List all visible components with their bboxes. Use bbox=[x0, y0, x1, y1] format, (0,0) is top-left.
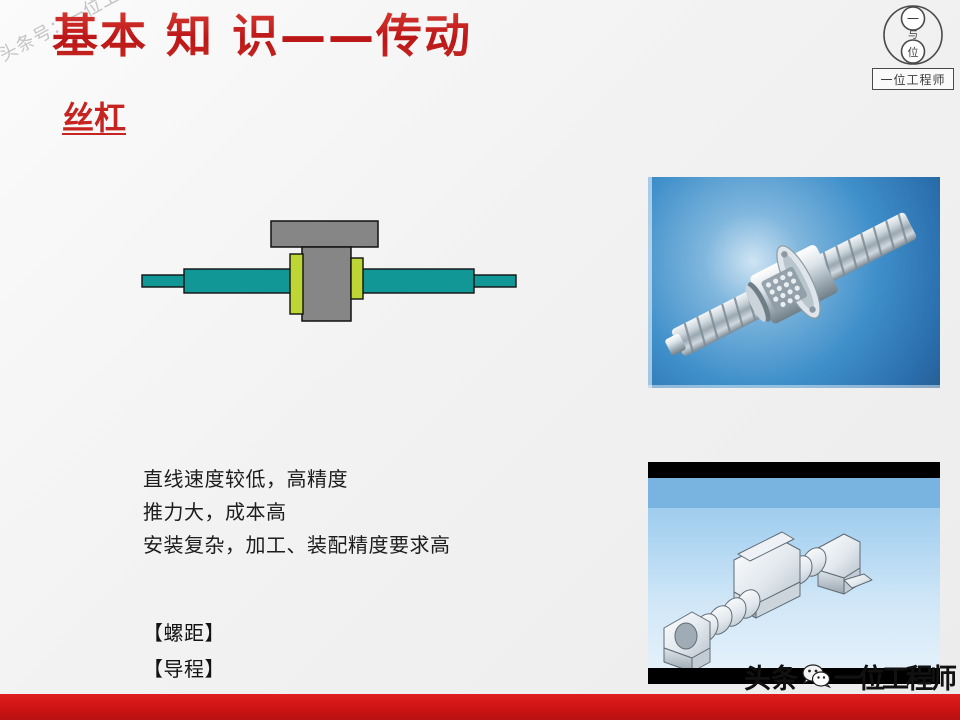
feature-line-3: 安装复杂，加工、装配精度要求高 bbox=[143, 529, 563, 562]
term-lead: 【导程】 bbox=[143, 651, 443, 687]
term-list: 【螺距】 【导程】 bbox=[143, 615, 443, 687]
lead-screw-schematic bbox=[140, 218, 520, 343]
collar-right bbox=[351, 258, 363, 299]
lead-screw-cad bbox=[648, 462, 940, 684]
svg-text:一: 一 bbox=[907, 12, 919, 26]
collar-left bbox=[290, 254, 303, 314]
photo1-bottom-edge bbox=[648, 385, 940, 388]
svg-text:与: 与 bbox=[908, 29, 918, 41]
bottom-accent-bar bbox=[0, 694, 960, 720]
page-title: 基本 知 识——传动 bbox=[52, 8, 472, 64]
photo1-left-edge bbox=[648, 177, 652, 388]
logo-mark-icon: 一 与 位 bbox=[872, 4, 954, 68]
cad-illustration bbox=[648, 462, 940, 684]
term-pitch: 【螺距】 bbox=[143, 615, 443, 651]
cad-bottom-bar bbox=[648, 668, 940, 684]
shaft-stub-left bbox=[142, 275, 188, 287]
page-subtitle: 丝杠 bbox=[62, 98, 126, 138]
shaft-stub-right bbox=[472, 275, 516, 287]
feature-line-2: 推力大，成本高 bbox=[143, 496, 563, 529]
nut-block bbox=[302, 247, 351, 321]
logo-caption: 一位工程师 bbox=[872, 68, 954, 90]
brand-logo: 一 与 位 一位工程师 bbox=[872, 4, 954, 96]
ball-screw-photo bbox=[648, 177, 940, 388]
slide-canvas: 头条号：一位工程师 基本 知 识——传动 丝杠 一 与 位 一位工程师 bbox=[0, 0, 960, 720]
mount-plate bbox=[271, 221, 378, 247]
ball-screw-illustration bbox=[648, 177, 940, 388]
schematic-svg bbox=[140, 218, 520, 343]
feature-line-1: 直线速度较低，高精度 bbox=[143, 463, 563, 496]
feature-list: 直线速度较低，高精度 推力大，成本高 安装复杂，加工、装配精度要求高 bbox=[143, 463, 563, 562]
svg-text:位: 位 bbox=[908, 45, 919, 59]
